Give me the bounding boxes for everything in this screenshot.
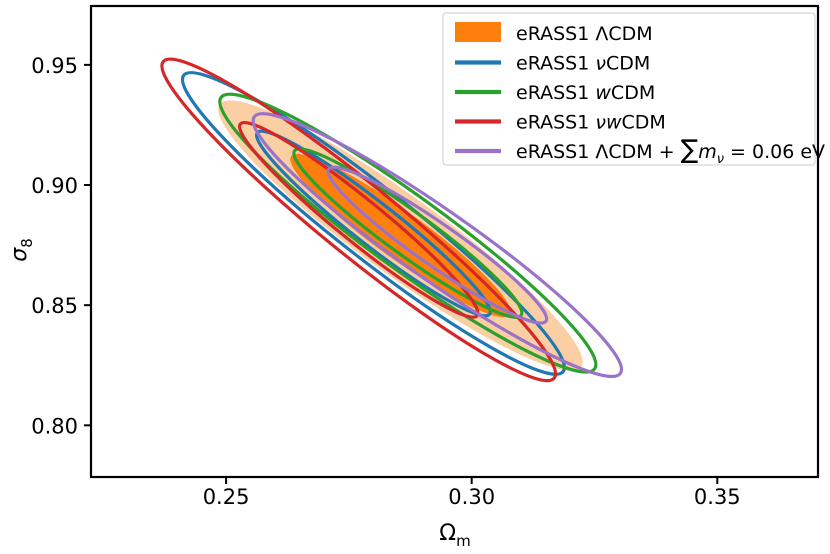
figure-root: 0.250.300.350.950.900.850.80 Ωm σ8 eRASS…: [0, 0, 830, 554]
x-axis-label-sub: m: [456, 532, 471, 550]
legend-label-erass1-nucdm: eRASS1 νCDM: [516, 53, 650, 75]
y-tick-label: 0.95: [31, 54, 78, 78]
contour-plot-svg: 0.250.300.350.950.900.850.80 Ωm σ8 eRASS…: [0, 0, 830, 554]
legend: eRASS1 ΛCDMeRASS1 νCDMeRASS1 wCDMeRASS1 …: [443, 13, 825, 167]
legend-label-erass1-nuwcdm: eRASS1 νwCDM: [516, 112, 666, 134]
y-tick-label: 0.80: [31, 414, 78, 438]
x-axis-label-main: Ω: [439, 521, 456, 546]
y-tick-label: 0.90: [31, 174, 78, 198]
y-axis-label-main: σ: [7, 247, 32, 262]
y-tick-label: 0.85: [31, 294, 78, 318]
legend-label-erass1-lcdm: eRASS1 ΛCDM: [516, 23, 653, 45]
legend-swatch-erass1-lcdm: [455, 22, 501, 42]
y-axis-label-sub: 8: [18, 238, 36, 248]
x-tick-label: 0.25: [203, 485, 250, 509]
legend-label-erass1-wcdm: eRASS1 wCDM: [516, 82, 655, 104]
x-tick-label: 0.30: [448, 485, 495, 509]
x-tick-label: 0.35: [694, 485, 741, 509]
